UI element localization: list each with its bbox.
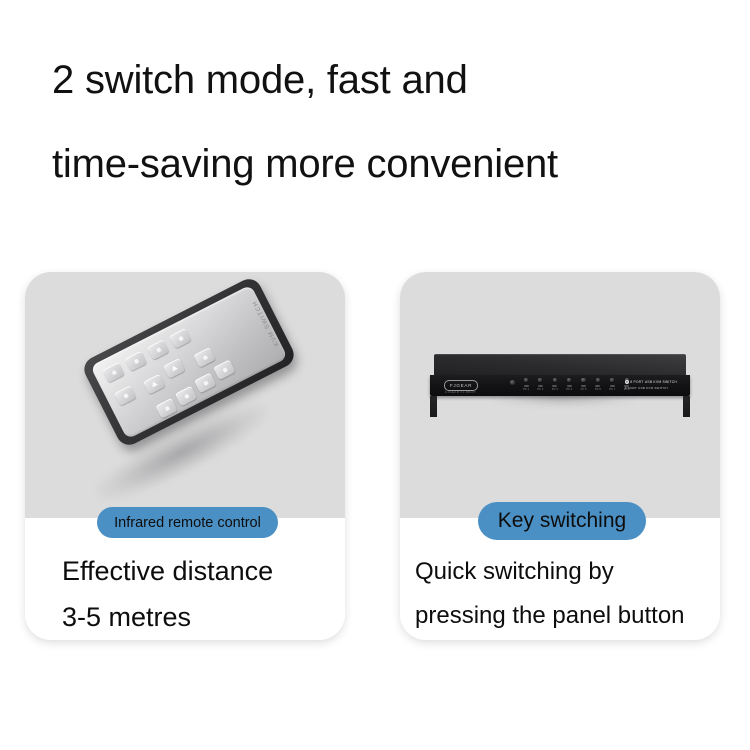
remote-key (155, 398, 177, 419)
port-label: PC 6 (594, 388, 602, 391)
port-led-icon (552, 385, 557, 387)
port-button-row: PC 1 PC 2 PC 3 (522, 378, 631, 391)
caption-infrared-remote: Effective distance 3-5 metres (62, 548, 273, 640)
remote-key (125, 351, 147, 372)
remote-key (114, 385, 136, 406)
port-button-icon[interactable] (553, 378, 557, 382)
port-led-icon (581, 385, 586, 387)
remote-brand-label: KVM SWITCH (252, 299, 281, 347)
caption-line-1: Quick switching by (415, 550, 685, 594)
key-glyph-square-icon (155, 346, 162, 353)
port-selector[interactable]: PC 4 (565, 378, 573, 391)
remote-key (102, 362, 124, 383)
port-button-icon[interactable] (610, 378, 614, 382)
remote-key (147, 339, 169, 360)
page-title: 2 switch mode, fast and time-saving more… (52, 38, 742, 206)
rackmount-kvm-switch: FJGEAR FJGEAR FJ-8DUH PC 1 PC 2 (430, 354, 690, 396)
port-button-icon[interactable] (524, 378, 528, 382)
port-count-badge: 8 (625, 380, 629, 384)
headline-line-2: time-saving more convenient (52, 122, 742, 206)
port-label: PC 3 (551, 388, 559, 391)
port-label: PC 7 (608, 388, 616, 391)
badge-label: Infrared remote control (114, 515, 261, 531)
key-glyph-square-icon (132, 358, 139, 365)
port-selector[interactable]: PC 3 (551, 378, 559, 391)
device-model-text: 88 PORT USB KVM SWITCH 8 PORT USB KVM SW… (625, 380, 677, 390)
key-glyph-square-icon (163, 405, 170, 412)
port-led-icon (538, 385, 543, 387)
product-image-infrared-remote: KVM SWITCH (25, 272, 345, 518)
device-model-label: 8 PORT USB KVM SWITCH (630, 380, 677, 384)
device-stage: FJGEAR FJGEAR FJ-8DUH PC 1 PC 2 (400, 272, 720, 518)
port-button-icon[interactable] (596, 378, 600, 382)
port-button-icon[interactable] (567, 378, 571, 382)
port-led-icon (595, 385, 600, 387)
status-badge-infrared-remote: Infrared remote control (97, 507, 278, 538)
caption-line-2: 3-5 metres (62, 594, 273, 640)
port-selector[interactable]: PC 1 (522, 378, 530, 391)
device-model-line-1: 88 PORT USB KVM SWITCH (625, 380, 677, 384)
headline-line-1: 2 switch mode, fast and (52, 38, 742, 122)
remote-key (213, 359, 235, 380)
device-rack-ear-left (430, 396, 437, 417)
remote-key (193, 347, 215, 368)
caption-line-2: pressing the panel button (415, 594, 685, 638)
port-selector[interactable]: PC 7 (608, 378, 616, 391)
device-rack-ear-right (683, 396, 690, 417)
port-button-icon[interactable] (581, 378, 585, 382)
port-label: PC 1 (522, 388, 530, 391)
key-glyph-triangle-icon (150, 380, 158, 387)
key-glyph-square-icon (221, 366, 228, 373)
badge-label: Key switching (498, 509, 626, 533)
port-selector[interactable]: PC 2 (536, 378, 544, 391)
power-led-icon (510, 380, 515, 385)
product-image-kvm-switch: FJGEAR FJGEAR FJ-8DUH PC 1 PC 2 (400, 272, 720, 518)
remote-key (194, 373, 216, 394)
port-selector[interactable]: PC 6 (594, 378, 602, 391)
port-led-icon (567, 385, 572, 387)
key-glyph-square-icon (110, 369, 117, 376)
key-glyph-triangle-icon (170, 364, 178, 371)
remote-key (143, 374, 165, 395)
caption-key-switching: Quick switching by pressing the panel bu… (415, 550, 685, 638)
port-button-icon[interactable] (538, 378, 542, 382)
key-glyph-square-icon (201, 354, 208, 361)
port-label: PC 5 (580, 388, 588, 391)
key-glyph-square-icon (183, 393, 190, 400)
port-led-icon (524, 385, 529, 387)
key-glyph-square-icon (177, 335, 184, 342)
remote-stage: KVM SWITCH (25, 272, 345, 518)
key-glyph-square-icon (202, 380, 209, 387)
remote-key (175, 386, 197, 407)
device-front-panel: FJGEAR FJGEAR FJ-8DUH PC 1 PC 2 (430, 375, 690, 396)
remote-key (163, 358, 185, 379)
port-selector[interactable]: PC 5 (580, 378, 588, 391)
port-label: PC 2 (536, 388, 544, 391)
remote-key (169, 328, 191, 349)
device-top-cover (434, 354, 686, 377)
caption-line-1: Effective distance (62, 548, 273, 594)
status-badge-key-switching: Key switching (478, 502, 646, 540)
port-led-icon (610, 385, 615, 387)
device-model-line-2: 8 PORT USB KVM SWITCH (625, 386, 677, 390)
key-glyph-square-icon (122, 392, 129, 399)
port-label: PC 4 (565, 388, 573, 391)
brand-logo-subtext: FJGEAR FJ-8DUH (445, 390, 476, 394)
